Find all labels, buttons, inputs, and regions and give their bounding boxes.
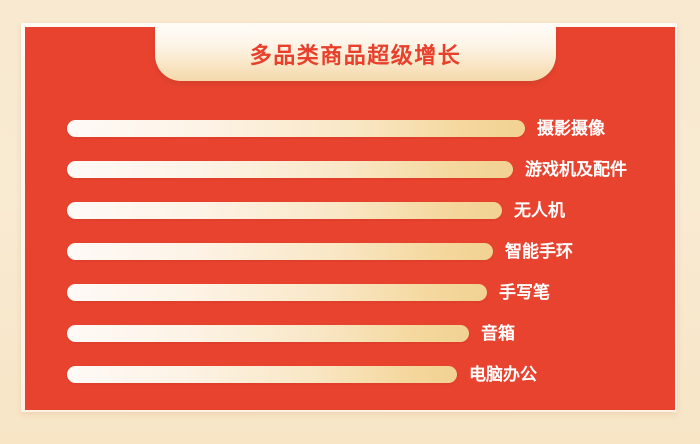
bar-label: 手写笔 xyxy=(499,284,550,301)
bar-label: 电脑办公 xyxy=(469,366,537,383)
bar-row: 摄影摄像 xyxy=(67,120,675,137)
bar-row: 智能手环 xyxy=(67,243,675,260)
bar-track xyxy=(67,120,525,137)
bar-chart: 摄影摄像 游戏机及配件 无人机 智能手环 手写笔 音箱 xyxy=(67,120,675,410)
bar-track xyxy=(67,161,513,178)
page-title: 多品类商品超级增长 xyxy=(250,38,462,67)
bar-label: 音箱 xyxy=(481,325,515,342)
bar-row: 无人机 xyxy=(67,202,675,219)
red-panel: 多品类商品超级增长 摄影摄像 游戏机及配件 无人机 智能手环 手写笔 xyxy=(25,27,675,410)
bar-label: 摄影摄像 xyxy=(537,120,605,137)
bar-row: 音箱 xyxy=(67,325,675,342)
bar-row: 游戏机及配件 xyxy=(67,161,675,178)
title-banner: 多品类商品超级增长 xyxy=(155,27,556,81)
bar-label: 无人机 xyxy=(514,202,565,219)
bar-track xyxy=(67,284,487,301)
bar-track xyxy=(67,325,469,342)
bar-track xyxy=(67,243,493,260)
bar-label: 智能手环 xyxy=(505,243,573,260)
page-background: 多品类商品超级增长 摄影摄像 游戏机及配件 无人机 智能手环 手写笔 xyxy=(0,0,700,444)
bar-row: 电脑办公 xyxy=(67,366,675,383)
bar-label: 游戏机及配件 xyxy=(525,161,627,178)
bar-track xyxy=(67,366,457,383)
bar-row: 手写笔 xyxy=(67,284,675,301)
bar-track xyxy=(67,202,502,219)
